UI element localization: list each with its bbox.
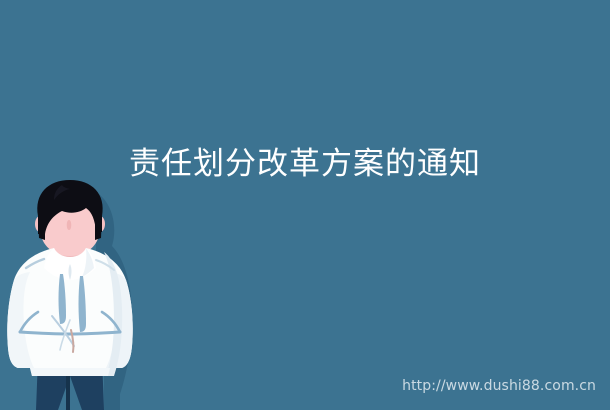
- poster-canvas: 责任划分改革方案的通知 http://www.dushi88.com.cn: [0, 0, 610, 410]
- page-title: 责任划分改革方案的通知: [0, 143, 610, 185]
- person-illustration: [0, 180, 140, 410]
- watermark-url: http://www.dushi88.com.cn: [402, 378, 596, 394]
- hoodie-hem: [30, 368, 110, 376]
